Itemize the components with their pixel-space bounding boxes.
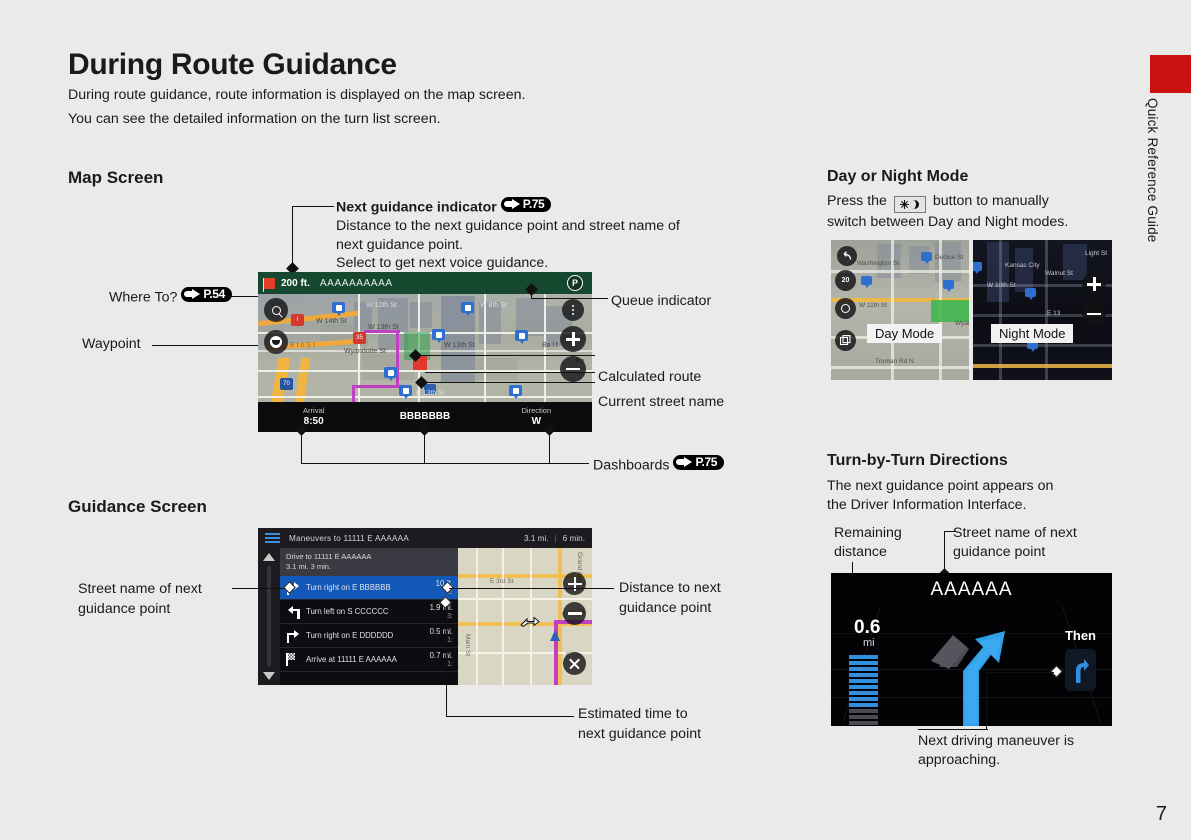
callout-where-to: Where To? P.54 (109, 287, 232, 308)
callout-estimated-time-1: Estimated time to (578, 705, 688, 724)
guidance-total-time: 6 min. (563, 534, 585, 543)
callout-remaining-distance-2: distance (834, 543, 887, 562)
arrow-right-icon (184, 289, 201, 300)
layers-button[interactable] (835, 330, 856, 351)
sun-moon-icon[interactable] (894, 196, 926, 213)
section-heading-turn-by-turn: Turn-by-Turn Directions (827, 452, 1008, 470)
callout-estimated-time-2: next guidance point (578, 725, 701, 744)
fork-right-arrow-icon (927, 609, 1031, 726)
page-title: During Route Guidance (68, 48, 397, 82)
page-ref-badge[interactable]: P.54 (181, 287, 232, 302)
maneuver-cursor-icon (520, 614, 540, 625)
day-night-body: Press the button to manually (827, 192, 1127, 213)
dashboard-value: BBBBBBB (400, 411, 451, 423)
day-night-body-before: Press the (827, 193, 887, 209)
callout-street-name-next-2: guidance point (78, 600, 170, 619)
guidance-mini-map[interactable]: E 3rd St E 4th St E 5th Grand Ave Main S… (458, 548, 592, 685)
section-heading-guidance-screen: Guidance Screen (68, 497, 207, 517)
callout-waypoint: Waypoint (82, 335, 141, 354)
intro-line-1: During route guidance, route information… (68, 87, 525, 103)
leader-line (531, 289, 532, 298)
zoom-out-icon (1087, 313, 1101, 316)
expand-map-button[interactable] (563, 652, 586, 675)
figure-divider (969, 240, 973, 380)
page-number: 7 (1156, 803, 1167, 826)
sun-glyph (900, 200, 909, 209)
hamburger-menu-icon[interactable] (265, 533, 280, 544)
zoom-out-button[interactable] (563, 602, 586, 625)
leader-line (292, 206, 334, 207)
next-guidance-distance: 200 ft. (281, 278, 310, 289)
overflow-menu-icon (572, 305, 575, 316)
section-heading-map-screen: Map Screen (68, 168, 163, 188)
arrow-right-icon (504, 199, 521, 210)
callout-distance-next-1: Distance to next (619, 579, 721, 598)
zoom-out-button[interactable] (560, 356, 586, 382)
maneuver-time: 3: (430, 612, 453, 621)
separator: | (555, 534, 557, 543)
leader-line (425, 372, 595, 373)
night-mode-map: Kansas City Walnut St Light St W 10th St… (971, 240, 1112, 380)
leader-line (531, 298, 608, 299)
speed-limit-badge: 20 (835, 270, 856, 291)
scroll-down-icon[interactable] (263, 672, 275, 680)
drive-to-line-2: 3.1 mi. 3 min. (286, 562, 452, 572)
callout-dashboards: Dashboards P.75 (593, 455, 724, 476)
page-ref-badge[interactable]: P.75 (673, 455, 724, 470)
next-guidance-indicator-bar[interactable]: 200 ft. AAAAAAAAAA P (258, 272, 592, 294)
chapter-tab-accent (1150, 55, 1191, 93)
maneuver-row[interactable]: Arrive at 11111 E AAAAAA 0.7 mi. 1: (280, 648, 458, 672)
guidance-header-meta: 3.1 mi. | 6 min. (524, 534, 585, 543)
back-button[interactable] (837, 246, 857, 266)
tbt-body-line2: the Driver Information Interface. (827, 496, 1027, 516)
maneuver-text: Turn right on E BBBBBB (306, 583, 436, 592)
dii-distance-bargraph (849, 655, 878, 725)
zoom-in-button[interactable] (560, 326, 586, 352)
queue-indicator-icon[interactable]: P (567, 275, 583, 291)
day-night-body-line2: switch between Day and Night modes. (827, 213, 1068, 233)
maneuver-row[interactable]: Turn left on S CCCCCC 1.9 mi. 3: (280, 600, 458, 624)
zoom-in-icon (566, 332, 580, 346)
maneuver-row[interactable]: Turn right on E DDDDDD 0.5 mi. 1: (280, 624, 458, 648)
zoom-out-icon (566, 368, 580, 371)
dashboard-arrival[interactable]: Arrival 8:50 (258, 402, 369, 432)
chapter-tab-label: Quick Reference Guide (1138, 98, 1160, 308)
section-heading-day-night: Day or Night Mode (827, 168, 968, 186)
dashboard-value: W (532, 416, 541, 428)
drive-to-summary: Drive to 11111 E AAAAAA 3.1 mi. 3 min. (280, 548, 458, 576)
waypoint-button[interactable] (264, 330, 288, 354)
arrow-right-icon (676, 457, 693, 468)
leader-line (292, 206, 293, 268)
callout-next-guidance-indicator: Next guidance indicator P.75 (336, 197, 551, 218)
guidance-screen-figure: Maneuvers to 11111 E AAAAAA 3.1 mi. | 6 … (258, 528, 592, 685)
maneuver-row[interactable]: Turn right on E BBBBBB 10 ft. 0: (280, 576, 458, 600)
dashboard-title: Arrival (303, 406, 324, 416)
callout-current-street-name: Current street name (598, 393, 724, 412)
driver-information-interface-figure: AAAAAA 0.6 mi Then (831, 573, 1112, 726)
tbt-body-line1: The next guidance point appears on (827, 477, 1053, 497)
zoom-in-button[interactable] (1082, 272, 1106, 296)
leader-line (918, 729, 988, 730)
leader-line (449, 588, 614, 589)
guidance-header-title: Maneuvers to 11111 E AAAAAA (289, 534, 409, 543)
leader-line (986, 672, 1054, 673)
overflow-menu-button[interactable] (562, 299, 584, 321)
dii-street-name: AAAAAA (831, 579, 1112, 601)
leader-line (944, 531, 956, 532)
compass-button[interactable] (835, 298, 856, 319)
scroll-up-icon[interactable] (263, 553, 275, 561)
leader-line (446, 606, 447, 716)
turn-right-icon (1071, 658, 1090, 683)
maneuver-distance: 0.5 mi. 1: (430, 627, 458, 645)
callout-street-name-dii-1: Street name of next (953, 524, 1077, 543)
zoom-out-icon (568, 612, 582, 615)
maneuver-time: 1: (430, 636, 453, 645)
tbt-caption-line2: approaching. (918, 751, 1000, 770)
dii-then-label: Then (1065, 628, 1096, 643)
maneuver-list[interactable]: Drive to 11111 E AAAAAA 3.1 mi. 3 min. T… (280, 548, 458, 685)
callout-distance-next-2: guidance point (619, 599, 711, 618)
guidance-scroll-rail[interactable] (258, 548, 280, 685)
maneuver-distance: 0.7 mi. 1: (430, 651, 458, 669)
manual-page: Quick Reference Guide During Route Guida… (0, 0, 1191, 840)
callout-label: Where To? (109, 290, 177, 306)
dii-remaining-distance: 0.6 (854, 619, 880, 637)
callout-label: Dashboards (593, 458, 670, 474)
callout-next-guidance-desc-3: Select to get next voice guidance. (336, 254, 548, 273)
guidance-header: Maneuvers to 11111 E AAAAAA 3.1 mi. | 6 … (258, 528, 592, 548)
maneuver-time: 1: (430, 660, 453, 669)
map-screen-figure: I 70 35 W 12th St W 8th St W 14th St W 1… (258, 272, 592, 432)
leader-line (301, 429, 302, 464)
leader-line (415, 355, 595, 356)
search-button[interactable] (264, 298, 288, 322)
callout-title: Next guidance indicator (336, 200, 497, 216)
zoom-in-button[interactable] (563, 572, 586, 595)
day-night-body-after: button to manually (933, 193, 1049, 209)
day-mode-label: Day Mode (867, 324, 942, 343)
leader-line (986, 672, 987, 730)
leader-line (421, 382, 595, 383)
page-ref-badge[interactable]: P.75 (501, 197, 552, 212)
callout-next-guidance-desc-1: Distance to the next guidance point and … (336, 217, 680, 236)
next-guidance-street-name: AAAAAAAAAA (320, 278, 393, 289)
dashboard-title: Direction (522, 406, 552, 416)
checkered-flag-icon (280, 653, 306, 666)
search-icon (272, 306, 281, 315)
tbt-caption-line1: Next driving maneuver is (918, 732, 1074, 751)
dii-maneuver-arrow (927, 609, 1031, 726)
expand-icon (568, 657, 581, 670)
leader-line (549, 429, 550, 464)
callout-next-guidance-desc-2: next guidance point. (336, 236, 463, 255)
zoom-in-icon (1087, 277, 1101, 291)
leader-line (424, 429, 425, 464)
dii-then-icon-box (1065, 649, 1096, 691)
callout-remaining-distance-1: Remaining (834, 524, 902, 543)
maneuver-text: Turn right on E DDDDDD (306, 631, 430, 640)
leader-line (446, 716, 574, 717)
callout-calculated-route: Calculated route (598, 368, 701, 387)
drive-to-line-1: Drive to 11111 E AAAAAA (286, 552, 452, 562)
zoom-out-button[interactable] (1082, 302, 1106, 326)
dashboard-direction[interactable]: Direction W (481, 402, 592, 432)
callout-street-name-dii-2: guidance point (953, 543, 1045, 562)
intro-line-2: You can see the detailed information on … (68, 111, 441, 127)
turn-right-icon (280, 629, 306, 643)
dashboard-value: 8:50 (304, 416, 324, 428)
maneuver-text: Arrive at 11111 E AAAAAA (306, 655, 430, 664)
leader-line (301, 463, 589, 464)
night-mode-label: Night Mode (991, 324, 1073, 343)
day-night-figure: Washington St Declue St W 11th St Wyando… (831, 240, 1112, 380)
moon-glyph (910, 200, 919, 209)
destination-flag-icon (264, 278, 275, 289)
callout-street-name-next-1: Street name of next (78, 580, 202, 599)
day-mode-map: Washington St Declue St W 11th St Wyando… (831, 240, 971, 380)
leader-line (944, 531, 945, 573)
scrollbar-track[interactable] (267, 566, 271, 667)
waypoint-icon (270, 336, 282, 348)
leader-line (152, 345, 274, 346)
turn-left-icon (280, 605, 306, 619)
callout-queue-indicator: Queue indicator (611, 292, 711, 311)
maneuver-text: Turn left on S CCCCCC (306, 607, 430, 616)
dii-distance-unit: mi (863, 637, 875, 649)
guidance-total-distance: 3.1 mi. (524, 534, 549, 543)
